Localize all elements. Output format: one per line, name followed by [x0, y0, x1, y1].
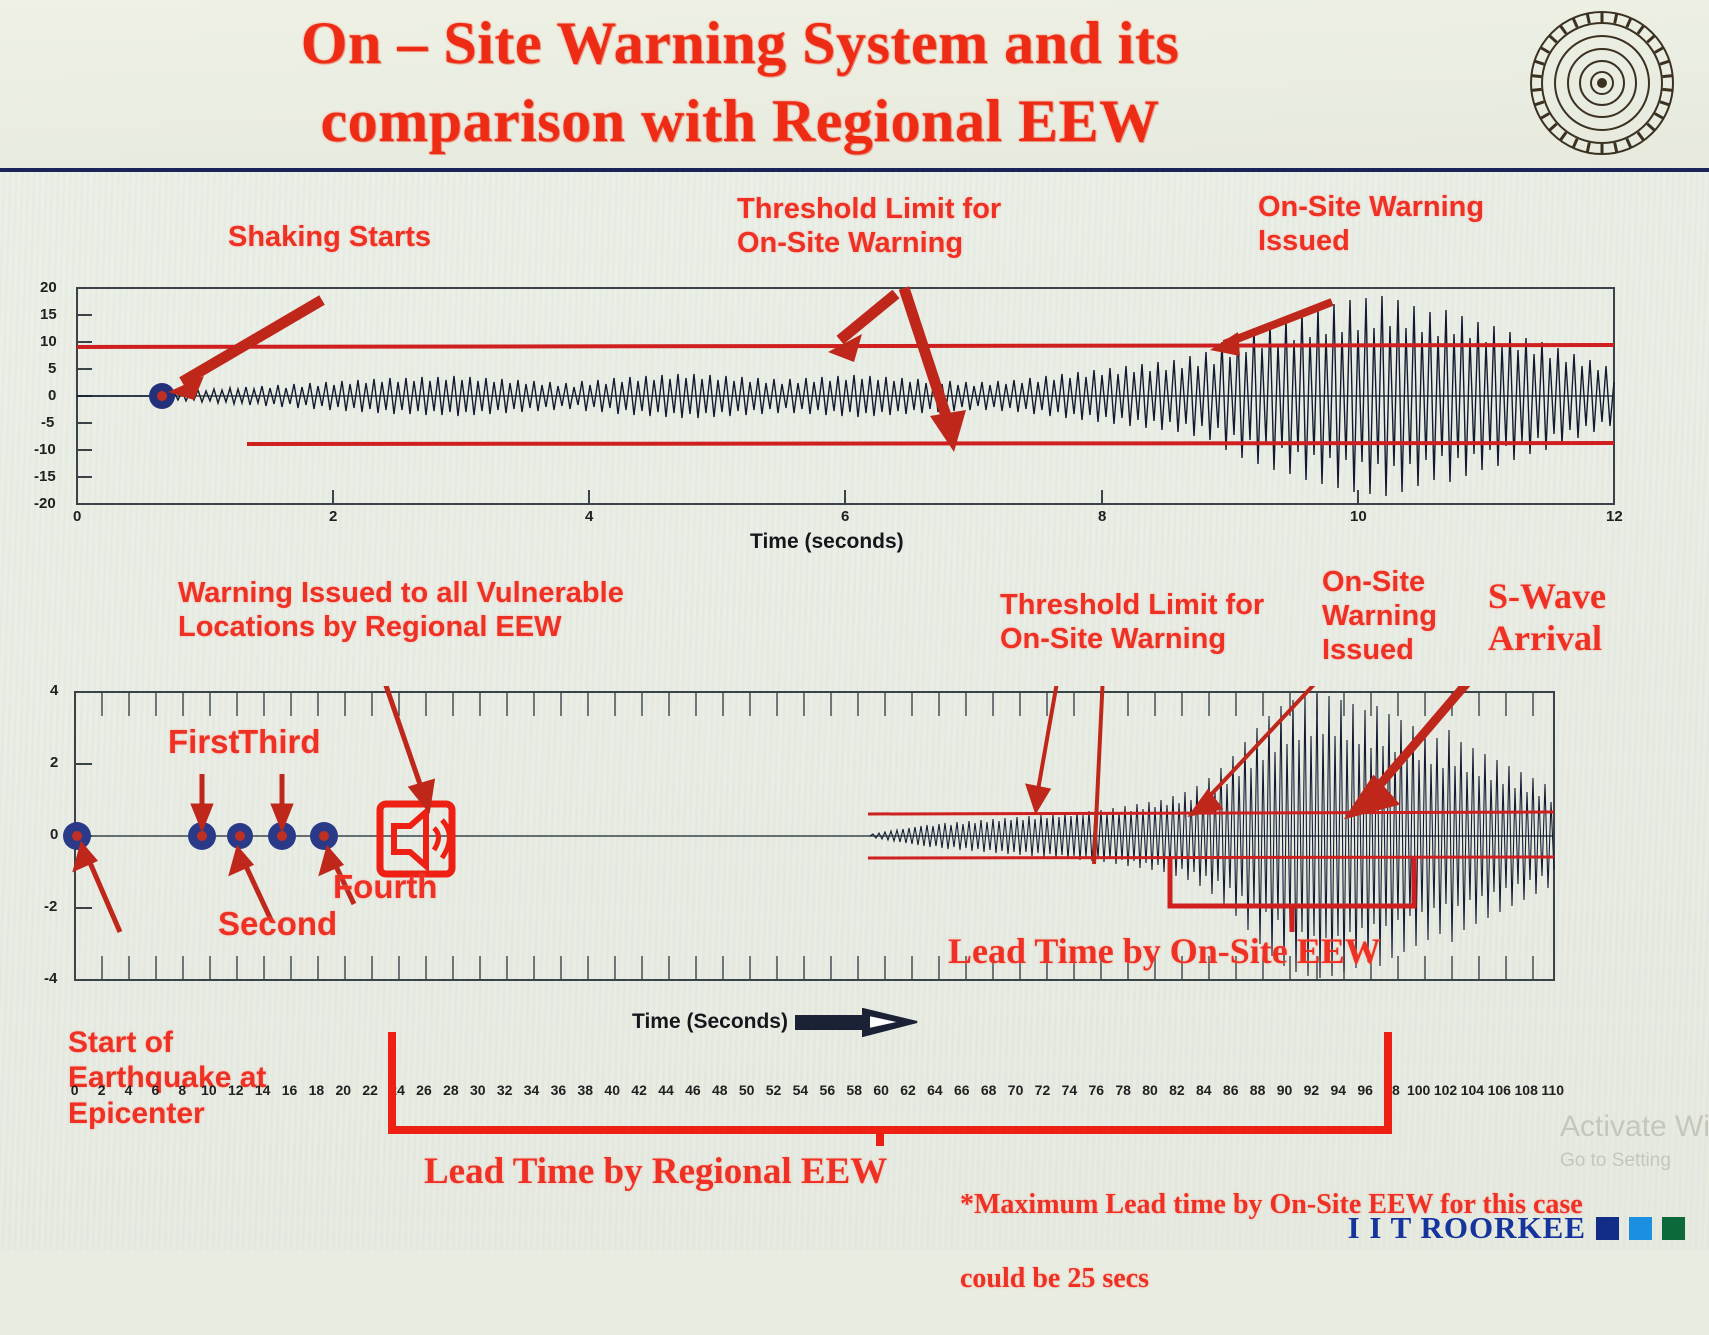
arrow-s-wave-arrival	[1354, 686, 1490, 812]
label-lead-time-on-site: Lead Time by On-Site EEW	[948, 930, 1381, 972]
arrow-first	[194, 774, 210, 826]
bottom-xtick-10: 10	[201, 1082, 217, 1098]
page-title-line1: On – Site Warning System and its	[150, 4, 1330, 82]
footnote-line2: could be 25 secs	[960, 1261, 1660, 1298]
station-marker-second	[227, 823, 253, 849]
header-divider	[0, 168, 1709, 172]
annotation-threshold-limit-bottom: Threshold Limit for On-Site Warning	[1000, 588, 1300, 656]
top-ytick-20: 20	[40, 279, 57, 296]
slide-header: On – Site Warning System and its compari…	[0, 0, 1709, 172]
brand-footer: I I T ROORKEE	[1348, 1210, 1685, 1246]
arrow-on-site-warning-bottom	[1192, 686, 1350, 814]
page-title: On – Site Warning System and its compari…	[150, 4, 1330, 160]
arrow-threshold-bottom-chart	[1028, 686, 1062, 810]
slide-root: On – Site Warning System and its compari…	[0, 0, 1709, 1250]
bottom-xtick-4: 4	[125, 1082, 133, 1098]
label-lead-time-regional: Lead Time by Regional EEW	[424, 1150, 887, 1194]
bottom-xtick-108: 108	[1515, 1082, 1538, 1098]
label-start-of-earthquake: Start of Earthquake at Epicenter	[68, 1025, 298, 1131]
top-xtick-6: 6	[841, 508, 849, 525]
top-xaxis-title: Time (seconds)	[750, 530, 904, 554]
top-ytick-m20: -20	[34, 495, 56, 512]
arrow-third	[274, 774, 290, 826]
watermark-line1: Activate Wi	[1560, 1110, 1709, 1143]
brand-swatch-1	[1596, 1217, 1619, 1240]
bottom-ytick-m4: -4	[44, 970, 57, 987]
arrow-epicenter	[76, 846, 120, 932]
top-xtick-2: 2	[329, 508, 337, 525]
iit-roorkee-seal-icon	[1527, 8, 1677, 158]
arrow-threshold-bottom	[904, 288, 966, 452]
top-ytick-5: 5	[48, 360, 56, 377]
annotation-s-wave-arrival: S-Wave Arrival	[1488, 575, 1668, 660]
annotation-regional-eew-warning: Warning Issued to all Vulnerable Locatio…	[178, 576, 718, 644]
brand-swatch-3	[1662, 1217, 1685, 1240]
bottom-xtick-6: 6	[151, 1082, 159, 1098]
annotation-on-site-warning-issued-bottom: On-Site Warning Issued	[1322, 565, 1462, 668]
arrow-threshold-top	[828, 294, 896, 362]
watermark-line2: Go to Setting	[1560, 1150, 1709, 1172]
bottom-xtick-18: 18	[309, 1082, 325, 1098]
top-xtick-8: 8	[1098, 508, 1106, 525]
page-title-line2: comparison with Regional EEW	[150, 82, 1330, 160]
annotation-shaking-starts: Shaking Starts	[228, 220, 458, 254]
bottom-ytick-4: 4	[50, 682, 58, 699]
chart-top-svg	[42, 282, 1654, 522]
top-xtick-10: 10	[1350, 508, 1367, 525]
bottom-xtick-100: 100	[1407, 1082, 1430, 1098]
top-ytick-0: 0	[48, 387, 56, 404]
windows-activation-watermark: Activate Wi Go to Setting	[1560, 1110, 1709, 1172]
label-first-station: First	[168, 723, 240, 762]
arrow-shaking-starts	[168, 300, 322, 400]
bottom-xtick-2: 2	[98, 1082, 106, 1098]
label-fourth-station: Fourth	[333, 868, 437, 907]
top-ytick-10: 10	[40, 333, 57, 350]
bottom-xtick-16: 16	[282, 1082, 298, 1098]
bottom-xtick-106: 106	[1488, 1082, 1511, 1098]
top-ytick-15: 15	[40, 306, 57, 323]
bottom-xtick-8: 8	[178, 1082, 186, 1098]
station-marker-epicenter	[63, 822, 91, 850]
regional-eew-broadcast-icon	[380, 804, 452, 874]
top-xtick-0: 0	[73, 508, 81, 525]
brand-swatch-2	[1629, 1217, 1652, 1240]
bottom-xtick-12: 12	[228, 1082, 244, 1098]
top-ytick-m10: -10	[34, 441, 56, 458]
station-marker-fourth	[310, 822, 338, 850]
bottom-xtick-102: 102	[1434, 1082, 1457, 1098]
bottom-ytick-2: 2	[50, 754, 58, 771]
label-second-station: Second	[218, 905, 337, 944]
top-xtick-12: 12	[1606, 508, 1623, 525]
bottom-xtick-110: 110	[1541, 1082, 1564, 1098]
threshold-line-lower-top	[247, 443, 1614, 444]
bottom-ytick-0: 0	[50, 826, 58, 843]
annotation-on-site-warning-issued-top: On-Site Warning Issued	[1258, 190, 1538, 258]
brand-text: I I T ROORKEE	[1348, 1210, 1586, 1246]
threshold-line-upper-bottom	[868, 812, 1554, 814]
annotation-threshold-limit-top: Threshold Limit for On-Site Warning	[737, 192, 1037, 260]
top-xtick-4: 4	[585, 508, 593, 525]
bottom-xtick-0: 0	[71, 1082, 79, 1098]
bottom-xtick-14: 14	[255, 1082, 271, 1098]
label-third-station: Third	[238, 723, 320, 762]
chart-top-record: 20 15 10 5 0 -5 -10 -15 -20 0 2 4 6 8 10…	[42, 282, 1654, 522]
onset-marker-top	[149, 383, 175, 409]
bottom-xtick-22: 22	[362, 1082, 378, 1098]
bracket-lead-time-regional	[380, 1030, 1400, 1148]
top-ytick-m15: -15	[34, 468, 56, 485]
bottom-xtick-20: 20	[336, 1082, 352, 1098]
bottom-ytick-m2: -2	[44, 898, 57, 915]
threshold-line-lower-bottom	[868, 857, 1554, 858]
bottom-xtick-104: 104	[1461, 1082, 1484, 1098]
top-ytick-m5: -5	[41, 414, 54, 431]
